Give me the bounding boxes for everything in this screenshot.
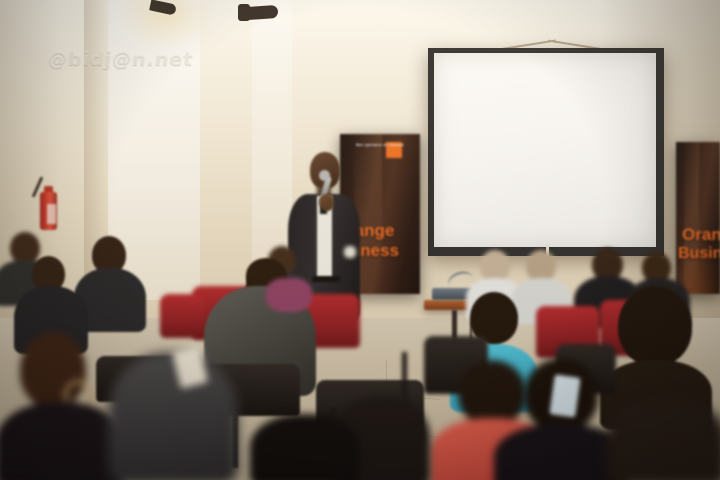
photo-scene: Mon opérateur de Télécom range siness Or… bbox=[0, 0, 720, 480]
extinguisher-label bbox=[47, 204, 56, 224]
watermark: @bidj@n.net bbox=[47, 48, 195, 70]
magenta-garment bbox=[266, 278, 312, 312]
paper-handout-2 bbox=[549, 374, 580, 417]
head bbox=[618, 286, 692, 366]
audience-member-front-seat bbox=[250, 414, 360, 480]
projection-screen-surface bbox=[434, 53, 656, 247]
body bbox=[0, 402, 124, 480]
chair-red-5 bbox=[160, 294, 204, 338]
banner-left-logo-text: Mon opérateur de Télécom bbox=[356, 144, 404, 148]
spotlight-right bbox=[246, 5, 279, 20]
audience-member-front-left bbox=[6, 332, 124, 480]
body bbox=[108, 352, 238, 480]
body bbox=[606, 398, 720, 480]
spotlight-right-mount bbox=[238, 4, 250, 21]
audience-member-front-right bbox=[606, 398, 720, 480]
microphone-head bbox=[319, 170, 330, 181]
speaker-hand bbox=[320, 194, 334, 211]
speaker-belt bbox=[312, 276, 340, 282]
body bbox=[250, 414, 360, 480]
audience-member-front-grey bbox=[108, 352, 238, 480]
fire-extinguisher bbox=[34, 178, 68, 240]
speaker-cuff bbox=[344, 246, 356, 258]
banner-right-line1: Oran bbox=[682, 226, 720, 243]
projection-screen-frame bbox=[428, 48, 664, 256]
